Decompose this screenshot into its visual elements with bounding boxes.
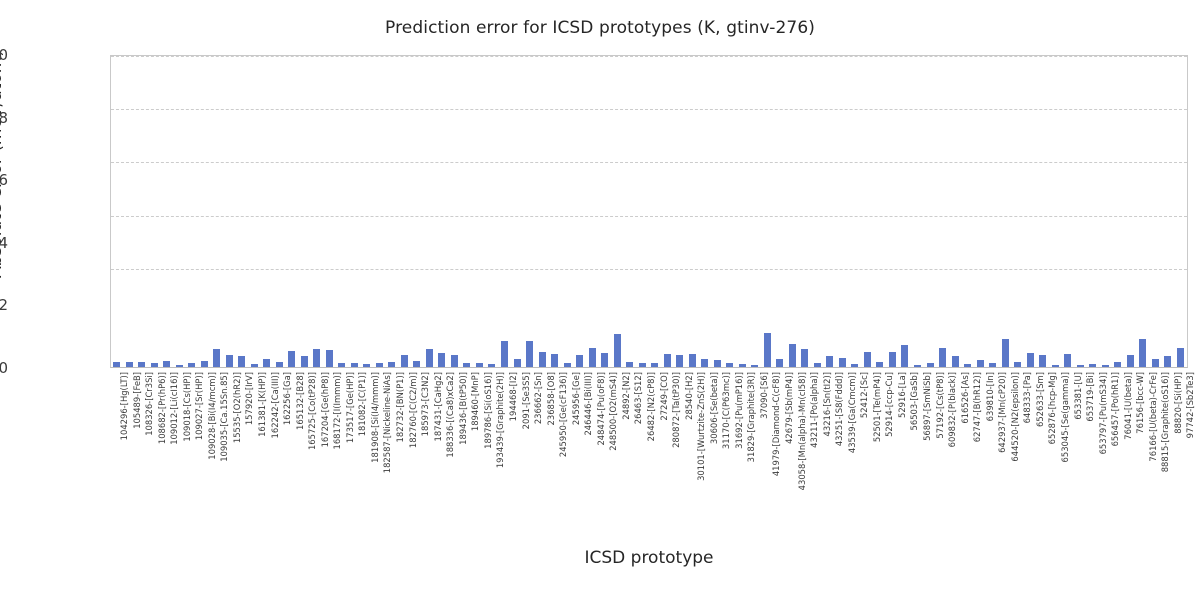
bar [1064,354,1071,367]
x-tick: 246446-[Bi(III)] [576,372,583,512]
bar [914,365,921,367]
x-tick: 52914-[ccp-Cu] [877,372,884,512]
bar [238,356,245,367]
x-tick: 108326-[Cr3Si] [137,372,144,512]
x-tick: 188336-[(Ca8)xCa2] [438,372,445,512]
x-tick: 280872-[Ta(tP30)] [664,372,671,512]
bar [1102,365,1109,367]
bar [689,354,696,367]
bar [889,352,896,367]
bar [776,359,783,367]
bar [801,349,808,367]
y-tick-label: 8 [0,109,8,127]
x-axis-label: ICSD prototype [110,548,1188,568]
x-tick: 236858-[O8] [539,372,546,512]
y-tick-label: 6 [0,171,8,189]
bar [876,362,883,367]
x-tick: 52501-[Te(mP4)] [865,372,872,512]
bar [839,358,846,367]
x-tick: 56503-[GaSb] [902,372,909,512]
bar [701,359,708,367]
bar [438,353,445,367]
x-tick: 161381-[K(HP)] [250,372,257,512]
x-tick: 182760-[C(C2/m)] [401,372,408,512]
x-tick: 30101-[Wurtzite-ZnS(2H)] [689,372,696,512]
x-tick: 52916-[La] [890,372,897,512]
x-tick: 28540-[H2] [677,372,684,512]
x-tick: 181908-[Si(I4/mmm)] [363,372,370,512]
x-tick: 181082-[C(P1)] [350,372,357,512]
x-axis-ticks: 104296-[Hg(LT)]105489-[FeB]108326-[Cr3Si… [110,372,1188,512]
bar [338,363,345,367]
x-tick: 656457-[Po(hR1)] [1103,372,1110,512]
x-tick: 31170-[C(P63mc)] [714,372,721,512]
bar [676,355,683,367]
x-tick: 104296-[Hg(LT)] [112,372,119,512]
x-tick: 76156-[bcc-W] [1128,372,1135,512]
bar [426,349,433,367]
x-tick: 609832-[P(black)] [940,372,947,512]
x-tick: 105489-[FeB] [125,372,132,512]
x-tick: 162256-[Ga] [275,372,282,512]
bar [739,364,746,367]
bar [1152,359,1159,367]
bar [1052,365,1059,367]
x-tick: 108682-[Pr(hP6)] [150,372,157,512]
bar [901,345,908,367]
bar [751,365,758,367]
bar [288,351,295,367]
x-tick: 26482-[N2(cP8)] [639,372,646,512]
x-tick: 31692-[Pu(mP16)] [727,372,734,512]
x-tick: 189786-[Si(oS16)] [476,372,483,512]
x-tick: 187431-[CaHg2] [426,372,433,512]
x-tick: 193439-[Graphite(2H)] [488,372,495,512]
bar [664,354,671,367]
bar [176,365,183,367]
bar [526,341,533,367]
bar [589,348,596,367]
bar [626,362,633,367]
x-tick: 43251-[S8(Fddd)] [827,372,834,512]
x-tick: 62747-[B(hR12)] [965,372,972,512]
bar [351,363,358,367]
y-tick-label: 2 [0,296,8,314]
bar [789,344,796,367]
x-tick: 653797-[Pu(mS34)] [1091,372,1098,512]
x-tick: 109027-[Sr(HP)] [187,372,194,512]
bar [401,355,408,367]
bar [1127,355,1134,367]
bar [564,363,571,367]
x-tick: 194468-[I2] [501,372,508,512]
x-tick: 245950-[Ge(cF136)] [551,372,558,512]
bar [989,363,996,367]
bar [764,333,771,367]
x-tick: 42679-[Sb(mP4)] [777,372,784,512]
bar [977,360,984,367]
x-tick: 157920-[IrV] [237,372,244,512]
bar [1014,362,1021,367]
bar [313,349,320,367]
x-tick: 648333-[Pa] [1015,372,1022,512]
bar [714,360,721,367]
bar [514,359,521,367]
x-tick: 43058-[Mn(alpha)-Mn(cI58)] [790,372,797,512]
x-tick: 639810-[In] [978,372,985,512]
chart-figure: Prediction error for ICSD prototypes (K,… [0,0,1200,600]
x-tick: 165725-[Co(tP28)] [300,372,307,512]
bar [939,348,946,367]
bar [639,363,646,367]
bar [1177,348,1184,367]
chart-title: Prediction error for ICSD prototypes (K,… [0,18,1200,38]
bar [576,355,583,367]
bar [1164,356,1171,367]
bar [226,355,233,367]
bar-series [111,56,1187,367]
x-tick: 185973-[C3N2] [413,372,420,512]
bar [651,363,658,367]
bar [413,361,420,367]
x-tick: 653719-[Bi] [1078,372,1085,512]
bar [201,361,208,367]
x-tick: 236662-[Sn] [526,372,533,512]
x-tick: 88820-[Si(HP)] [1166,372,1173,512]
x-tick: 43539-[Ga(Cmcm)] [840,372,847,512]
bar [1039,355,1046,367]
x-tick: 248500-[O2(mS4)] [601,372,608,512]
bar [1089,364,1096,367]
x-tick: 43211-[Po(alpha)] [802,372,809,512]
bar [551,354,558,367]
x-tick: 56897-[SmNiSb] [915,372,922,512]
x-tick: 37090-[S6] [752,372,759,512]
bar [851,364,858,367]
y-tick-label: 0 [0,359,8,377]
bar [113,362,120,367]
x-tick: 652876-[hcp-Mg] [1040,372,1047,512]
x-tick: 24892-[N2] [614,372,621,512]
bar [376,363,383,367]
bar [151,363,158,367]
x-tick: 26463-[S12] [626,372,633,512]
bar [601,353,608,367]
x-tick: 653381-[U] [1066,372,1073,512]
x-tick: 88815-[Graphite(oS16)] [1153,372,1160,512]
bar [1002,339,1009,367]
bar [326,350,333,367]
bar [301,356,308,368]
bar [539,352,546,367]
bar [864,352,871,367]
bar [1114,362,1121,367]
x-tick: 165132-[B28] [288,372,295,512]
x-tick: 27249-[CO] [652,372,659,512]
bar [276,362,283,367]
x-tick: 652633-[Sm] [1028,372,1035,512]
bar [1139,339,1146,367]
bar [614,334,621,367]
x-tick: 15535-[O2(hR2)] [225,372,232,512]
bar [927,363,934,367]
bar [952,356,959,367]
x-tick: 41979-[Diamond-C(cF8)] [764,372,771,512]
bar [213,349,220,367]
bar [964,364,971,367]
bar [1077,365,1084,367]
x-tick: 162242-[Ca(III)] [263,372,270,512]
x-tick: 642937-[Mn(cP20)] [990,372,997,512]
bar [163,361,170,367]
x-tick: 57192-[Cs(tP8)] [928,372,935,512]
x-tick: 168172-[I(Immm)] [325,372,332,512]
y-tick-label: 4 [0,234,8,252]
y-tick-label: 10 [0,46,8,64]
x-tick: 76166-[U(beta)-CrFe] [1141,372,1148,512]
x-tick: 189460-[MnP] [463,372,470,512]
x-tick: 109035-[Ca.15Sn.85] [212,372,219,512]
x-tick: 182587-[Nickeline-NiAs] [375,372,382,512]
bar [726,363,733,367]
bar [451,355,458,367]
bar [501,341,508,367]
bar [388,362,395,367]
x-tick: 167204-[Ge(hP8)] [313,372,320,512]
x-tick: 245956-[Ge] [564,372,571,512]
bar [188,363,195,367]
bar [476,363,483,367]
bar [251,364,258,367]
x-tick: 109018-[Cs(HP)] [175,372,182,512]
x-tick: 616526-[As] [953,372,960,512]
x-tick: 173517-[Ge(HP)] [338,372,345,512]
plot-area [110,55,1188,368]
x-tick: 52412-[Sc] [852,372,859,512]
x-tick: 30606-[Se(beta)] [702,372,709,512]
x-tick: 2091-[Se3S5] [514,372,521,512]
x-tick: 43216-[Sn(tI2)] [815,372,822,512]
x-tick: 189436-[B(tP50)] [451,372,458,512]
x-tick-label: 97742-[Sb2Te3] [1185,372,1195,438]
x-tick: 31829-[Graphite(3R)] [739,372,746,512]
bar [126,362,133,367]
x-tick: 76041-[U(beta)] [1116,372,1123,512]
bar [463,363,470,367]
bar [138,362,145,367]
x-tick: 109028-[Bi(I4/mcm)] [200,372,207,512]
bar [488,364,495,367]
x-tick: 248474-[Pu(oF8)] [589,372,596,512]
bar [826,356,833,367]
x-tick: 653045-[Se(gamma)] [1053,372,1060,512]
bar [1027,353,1034,367]
bar [263,359,270,367]
x-tick: 644520-[N2(epsilon)] [1003,372,1010,512]
bar [814,363,821,367]
x-tick: 97742-[Sb2Te3] [1178,372,1185,512]
bar [363,364,370,367]
x-tick: 182732-[BN(P1)] [388,372,395,512]
x-tick: 109012-[Li(cI16)] [162,372,169,512]
